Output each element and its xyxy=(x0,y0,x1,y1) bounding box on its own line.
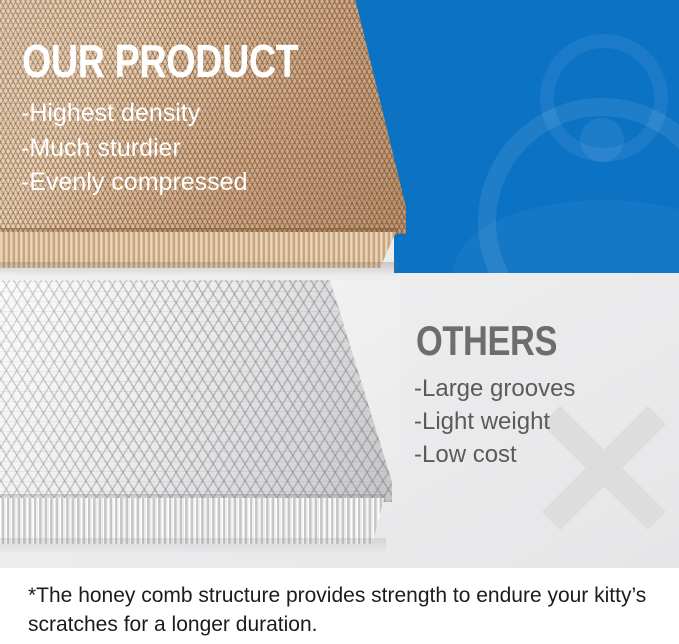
others-board-shading xyxy=(0,280,392,502)
footnote-caption-text: *The honey comb structure provides stren… xyxy=(28,582,653,639)
check-circle-watermark-dot xyxy=(580,118,624,162)
others-board-shadow xyxy=(0,538,386,554)
others-bullet-1: -Large grooves xyxy=(414,372,575,405)
our-product-title: OUR PRODUCT xyxy=(22,38,298,84)
our-product-bullet-list: -Highest density -Much sturdier -Evenly … xyxy=(21,96,247,200)
others-title: OTHERS xyxy=(416,320,557,362)
our-product-board-shadow xyxy=(0,262,398,276)
our-product-bullet-1: -Highest density xyxy=(21,96,247,131)
others-bullet-3: -Low cost xyxy=(414,438,575,471)
others-board-image xyxy=(0,280,392,568)
product-comparison-image: OUR PRODUCT -Highest density -Much sturd… xyxy=(0,0,679,568)
others-bullet-list: -Large grooves -Light weight -Low cost xyxy=(414,372,575,471)
our-product-bullet-3: -Evenly compressed xyxy=(21,165,247,200)
comparison-infographic: OUR PRODUCT -Highest density -Much sturd… xyxy=(0,0,679,644)
our-product-panel xyxy=(394,0,679,273)
footnote-caption: *The honey comb structure provides stren… xyxy=(0,568,679,644)
our-product-bullet-2: -Much sturdier xyxy=(21,131,247,166)
others-bullet-2: -Light weight xyxy=(414,405,575,438)
